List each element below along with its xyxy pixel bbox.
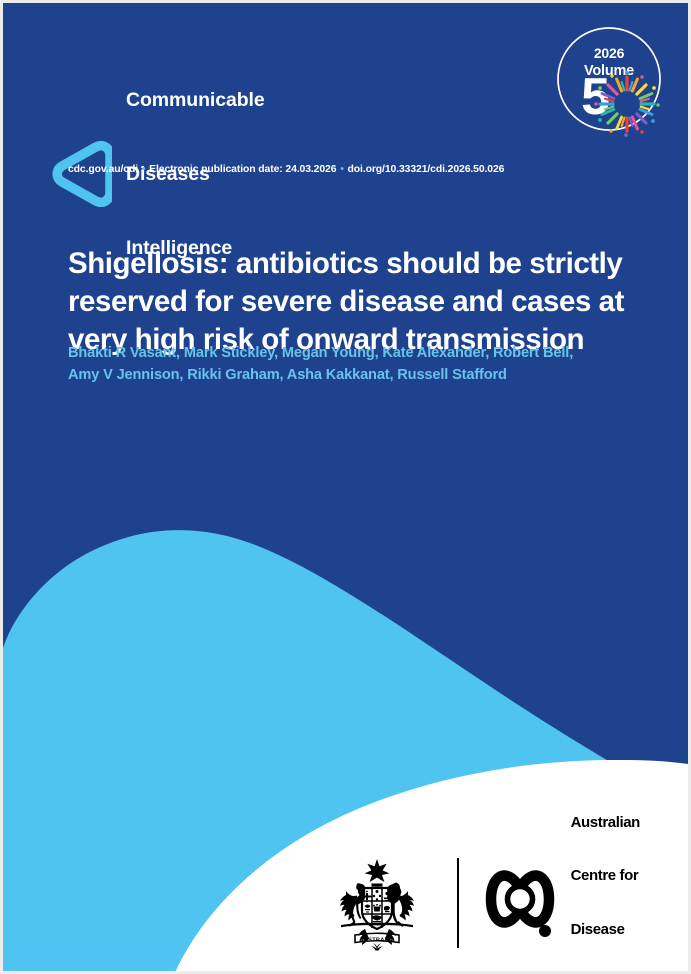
anniversary-badge: 2026 Volume 5 — [549, 19, 669, 141]
footer-logo-group: AUSTRALIA — [321, 848, 640, 958]
cover-page: Communicable Diseases Intelligence 2026 … — [0, 0, 691, 974]
acdc-line-2: Centre for — [571, 867, 640, 885]
acdc-logo-icon — [485, 865, 559, 941]
acdc-line-3: Disease — [571, 921, 640, 939]
meta-separator-2: • — [339, 164, 345, 175]
anniversary-starburst-icon — [549, 19, 669, 141]
meta-site[interactable]: cdc.gov.au/cdi — [68, 164, 138, 175]
meta-doi[interactable]: doi.org/10.33321/cdi.2026.50.026 — [348, 164, 505, 175]
logo-divider — [457, 858, 459, 948]
author-list: Bhakti R Vasant, Mark Stickley, Megan Yo… — [68, 343, 588, 386]
australian-coat-of-arms-icon: AUSTRALIA — [321, 855, 433, 951]
masthead-line-1: Communicable — [126, 88, 265, 113]
acdc-line-1: Australian — [571, 814, 640, 832]
acdc-wordmark: Australian Centre for Disease Control — [571, 778, 640, 974]
acdc-lockup: Australian Centre for Disease Control — [485, 778, 640, 974]
meta-publication-date: Electronic publication date: 24.03.2026 — [149, 164, 336, 175]
meta-separator-1: • — [141, 164, 147, 175]
publication-meta-line: cdc.gov.au/cdi • Electronic publication … — [68, 164, 504, 175]
